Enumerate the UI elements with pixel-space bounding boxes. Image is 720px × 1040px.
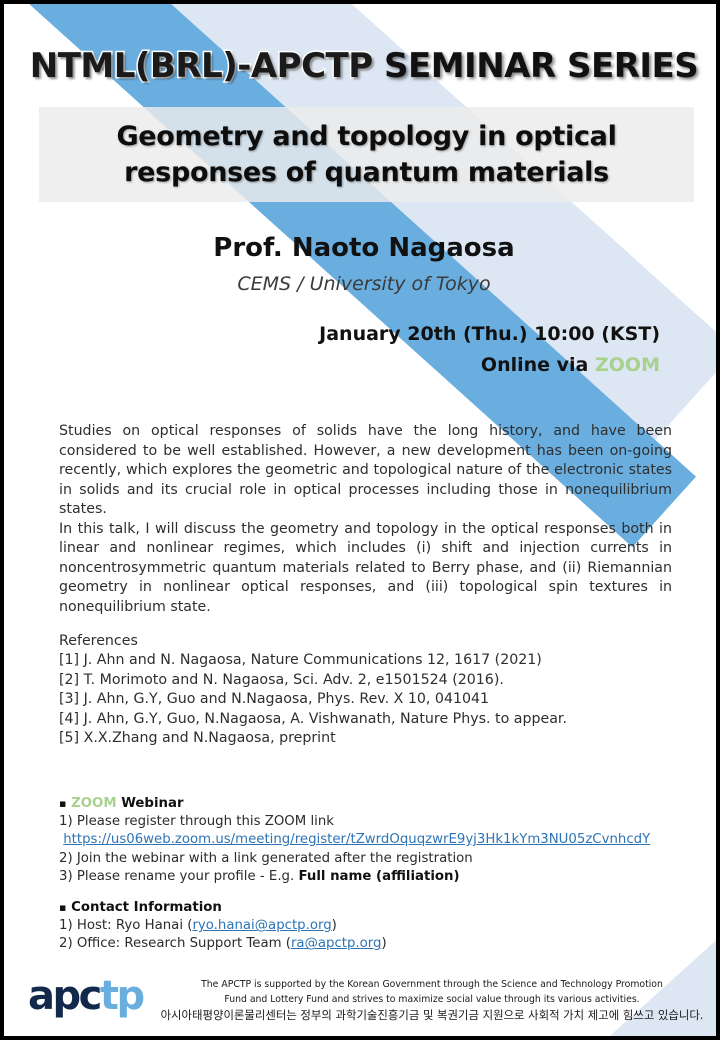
contact-office-suffix: )	[381, 936, 386, 951]
webinar-step-1: 1) Please register through this ZOOM lin…	[59, 813, 679, 831]
contact-heading: ▪ Contact Information	[59, 899, 679, 917]
abstract-paragraph-1: Studies on optical responses of solids h…	[59, 422, 672, 520]
event-venue: Online via ZOOM	[481, 354, 660, 376]
reference-item: [5] X.X.Zhang and N.Nagaosa, preprint	[59, 729, 679, 748]
speaker-affiliation: CEMS / University of Tokyo	[4, 273, 716, 295]
abstract-text: Studies on optical responses of solids h…	[59, 422, 672, 617]
contact-section: ▪ Contact Information 1) Host: Ryo Hanai…	[59, 899, 679, 954]
zoom-webinar-heading: ▪ ZOOM Webinar	[59, 795, 679, 813]
square-bullet-icon: ▪	[59, 797, 66, 810]
contact-host-row: 1) Host: Ryo Hanai (ryo.hanai@apctp.org)	[59, 917, 679, 935]
poster-canvas: NTML(BRL)-APCTP SEMINAR SERIES Geometry …	[4, 4, 716, 1036]
series-header-solid: SEMINAR SERIES	[384, 46, 698, 86]
series-header-outlined: NTML(BRL)-APCTP	[30, 46, 373, 86]
webinar-step-2: 2) Join the webinar with a link generate…	[59, 850, 679, 868]
references-section: References [1] J. Ahn and N. Nagaosa, Na…	[59, 632, 679, 748]
reference-item: [4] J. Ahn, G.Y, Guo, N.Nagaosa, A. Vish…	[59, 710, 679, 729]
host-email-link[interactable]: ryo.hanai@apctp.org	[192, 918, 331, 933]
series-header: NTML(BRL)-APCTP SEMINAR SERIES	[4, 46, 716, 86]
contact-heading-label: Contact Information	[71, 900, 222, 915]
square-bullet-icon: ▪	[59, 901, 66, 914]
event-datetime: January 20th (Thu.) 10:00 (KST)	[319, 323, 660, 345]
contact-office-prefix: 2) Office: Research Support Team (	[59, 936, 291, 951]
poster-footer: apctp The APCTP is supported by the Kore…	[4, 970, 716, 1032]
footer-support-korean: 아시아태평양이론물리센터는 정부의 과학기술진흥기금 및 복권기금 지원으로 사…	[154, 1007, 710, 1023]
webinar-step-3: 3) Please rename your profile - E.g. Ful…	[59, 868, 679, 886]
contact-host-suffix: )	[332, 918, 337, 933]
footer-support-line-2: Fund and Lottery Fund and strives to max…	[224, 994, 639, 1005]
contact-office-row: 2) Office: Research Support Team (ra@apc…	[59, 935, 679, 953]
footer-support-text: The APCTP is supported by the Korean Gov…	[154, 978, 710, 1023]
zoom-registration-link[interactable]: https://us06web.zoom.us/meeting/register…	[63, 832, 650, 847]
office-email-link[interactable]: ra@apctp.org	[291, 936, 382, 951]
event-venue-prefix: Online via	[481, 354, 595, 376]
apctp-logo: apctp	[28, 976, 143, 1016]
reference-item: [2] T. Morimoto and N. Nagaosa, Sci. Adv…	[59, 671, 679, 690]
webinar-step-3-prefix: 3) Please rename your profile - E.g.	[59, 869, 298, 884]
zoom-webinar-heading-zoom: ZOOM	[71, 796, 116, 811]
talk-title-box: Geometry and topology in optical respons…	[39, 107, 694, 202]
event-venue-platform: ZOOM	[595, 354, 660, 376]
abstract-paragraph-2: In this talk, I will discuss the geometr…	[59, 520, 672, 618]
contact-host-prefix: 1) Host: Ryo Hanai (	[59, 918, 192, 933]
seminar-poster: NTML(BRL)-APCTP SEMINAR SERIES Geometry …	[0, 0, 720, 1040]
references-heading: References	[59, 632, 679, 651]
speaker-name: Prof. Naoto Nagaosa	[4, 233, 716, 263]
reference-item: [1] J. Ahn and N. Nagaosa, Nature Commun…	[59, 651, 679, 670]
talk-title-line-1: Geometry and topology in optical	[116, 119, 616, 155]
poster-content: NTML(BRL)-APCTP SEMINAR SERIES Geometry …	[4, 4, 716, 1036]
footer-support-line-1: The APCTP is supported by the Korean Gov…	[201, 979, 663, 990]
apctp-logo-dark-part: apc	[28, 973, 100, 1019]
reference-item: [3] J. Ahn, G.Y, Guo and N.Nagaosa, Phys…	[59, 690, 679, 709]
zoom-webinar-heading-rest: Webinar	[117, 796, 184, 811]
talk-title-line-2: responses of quantum materials	[124, 155, 609, 191]
webinar-register-link-row: https://us06web.zoom.us/meeting/register…	[59, 831, 679, 849]
zoom-webinar-section: ▪ ZOOM Webinar 1) Please register throug…	[59, 795, 679, 886]
apctp-logo-light-part: tp	[100, 973, 143, 1019]
webinar-step-3-emphasis: Full name (affiliation)	[298, 869, 459, 884]
